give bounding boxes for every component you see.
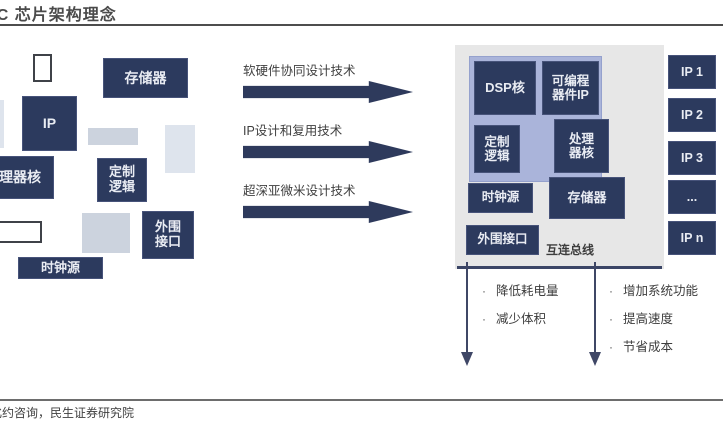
placeholder-block xyxy=(88,128,138,145)
soc-component-block: 时钟源 xyxy=(468,183,533,213)
benefit-item-label: 节省成本 xyxy=(623,336,673,355)
bullet-icon: · xyxy=(609,340,623,354)
benefit-item-label: 减少体积 xyxy=(496,308,546,327)
benefit-list-left: ·降低耗电量·减少体积 xyxy=(482,280,559,336)
technology-arrow: 软硬件协同设计技术 xyxy=(243,60,438,103)
component-block: IP xyxy=(22,96,77,151)
benefit-item-label: 提高速度 xyxy=(623,308,673,327)
ip-block: ... xyxy=(668,180,716,214)
ip-block: IP 3 xyxy=(668,141,716,175)
ip-block-stack: IP 1IP 2IP 3...IP n xyxy=(668,55,716,255)
component-block: 外围接口 xyxy=(142,211,194,259)
soc-component-block: DSP核 xyxy=(474,61,536,115)
arrow-stem xyxy=(594,262,596,354)
arrow-stem xyxy=(466,262,468,354)
soc-architecture-panel: 软件 DSP核可编程器件IP定制逻辑处理器核时钟源存储器外围接口互连总线 xyxy=(455,45,664,269)
soc-component-block: 可编程器件IP xyxy=(542,61,599,115)
technology-arrow-label: 超深亚微米设计技术 xyxy=(243,180,438,199)
benefit-arrow-left xyxy=(461,262,473,366)
right-arrow-icon xyxy=(243,201,413,223)
technology-arrow-label: IP设计和复用技术 xyxy=(243,120,438,139)
bullet-icon: · xyxy=(609,312,623,326)
footer-divider xyxy=(0,399,723,401)
technology-arrows-group: 软硬件协同设计技术IP设计和复用技术超深亚微米设计技术 xyxy=(243,60,438,235)
benefit-list-right: ·增加系统功能·提高速度·节省成本 xyxy=(609,280,698,364)
placeholder-block xyxy=(0,100,4,148)
arrow-head-icon xyxy=(461,352,473,366)
component-block: 定制逻辑 xyxy=(97,158,147,202)
benefit-item: ·减少体积 xyxy=(482,308,559,327)
ip-block: IP 2 xyxy=(668,98,716,132)
component-block: 存储器 xyxy=(103,58,188,98)
source-note: 化约咨询，民生证券研究院 xyxy=(0,404,134,421)
ip-block: IP 1 xyxy=(668,55,716,89)
right-arrow-icon xyxy=(243,141,413,163)
soc-component-block: 定制逻辑 xyxy=(474,125,520,173)
component-block: 时钟源 xyxy=(18,257,103,279)
benefit-item: ·增加系统功能 xyxy=(609,280,698,299)
interconnect-bus-label: 互连总线 xyxy=(515,241,625,258)
right-arrow-icon xyxy=(243,81,413,103)
soc-component-block: 处理器核 xyxy=(554,119,609,173)
page-title: oC 芯片架构理念 xyxy=(0,1,117,25)
benefit-item-label: 降低耗电量 xyxy=(496,280,559,299)
benefit-arrow-right xyxy=(589,262,601,366)
benefit-item: ·提高速度 xyxy=(609,308,698,327)
placeholder-block xyxy=(165,125,195,173)
technology-arrow: IP设计和复用技术 xyxy=(243,120,438,163)
outlined-block xyxy=(0,221,42,243)
ip-block: IP n xyxy=(668,221,716,255)
title-divider xyxy=(0,24,723,26)
benefit-item: ·降低耗电量 xyxy=(482,280,559,299)
outlined-block xyxy=(33,54,52,82)
bullet-icon: · xyxy=(609,284,623,298)
bullet-icon: · xyxy=(482,284,496,298)
technology-arrow: 超深亚微米设计技术 xyxy=(243,180,438,223)
discrete-components-diagram: 存储器IP处理器核定制逻辑外围接口时钟源 xyxy=(0,38,232,288)
component-block: 处理器核 xyxy=(0,156,54,199)
benefit-item: ·节省成本 xyxy=(609,336,698,355)
technology-arrow-label: 软硬件协同设计技术 xyxy=(243,60,438,79)
bullet-icon: · xyxy=(482,312,496,326)
arrow-head-icon xyxy=(589,352,601,366)
soc-component-block: 存储器 xyxy=(549,177,625,219)
placeholder-block xyxy=(82,213,130,253)
interconnect-bus-line xyxy=(457,266,662,269)
benefit-item-label: 增加系统功能 xyxy=(623,280,698,299)
